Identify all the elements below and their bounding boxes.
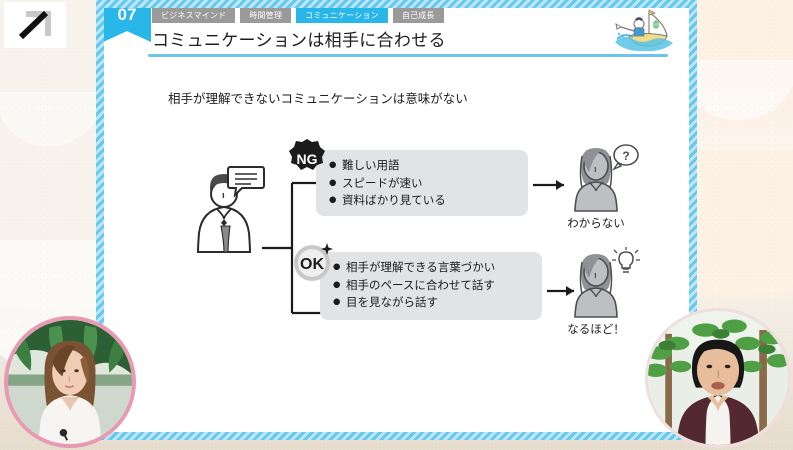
reaction-confused-caption: わからない	[548, 215, 644, 231]
lightbulb-icon	[612, 246, 640, 272]
ok-points-list: 相手が理解できる言葉づかい 相手のペースに合わせて話す 目を見ながら話す	[346, 259, 530, 312]
participant-left-frame	[4, 316, 136, 448]
diagonal-arrow-logo-icon	[15, 8, 55, 42]
title-underline	[148, 54, 668, 57]
slide-subtitle: 相手が理解できないコミュニケーションは意味がない	[168, 88, 468, 107]
svg-text:OK: OK	[300, 256, 324, 273]
ng-stamp-icon: NG	[286, 138, 328, 180]
presentation-slide: 07 ビジネスマインド 時間管理 コミュニケーション 自己成長 コミュニケーショ…	[96, 0, 697, 440]
tab-communication[interactable]: コミュニケーション	[296, 8, 388, 23]
participant-left-video[interactable]	[4, 316, 136, 448]
reaction-understood-caption: なるほど！	[548, 321, 644, 337]
woman-understanding-icon	[548, 246, 644, 318]
chapter-tabstrip[interactable]: ビジネスマインド 時間管理 コミュニケーション 自己成長	[152, 8, 444, 23]
svg-text:NG: NG	[297, 151, 318, 167]
reaction-understood: なるほど！	[548, 246, 644, 337]
woman-video-feed	[8, 320, 132, 444]
channel-logo	[4, 2, 66, 48]
ng-point-3: 資料ばかり見ている	[342, 192, 516, 210]
ok-point-2: 相手のペースに合わせて話す	[346, 277, 530, 295]
ng-points-box: 難しい用語 スピードが速い 資料ばかり見ている	[316, 150, 528, 216]
participant-right-video[interactable]	[645, 308, 791, 448]
ng-point-1: 難しい用語	[342, 157, 516, 175]
ok-point-1: 相手が理解できる言葉づかい	[346, 259, 530, 277]
svg-text:?: ?	[622, 149, 629, 163]
question-bubble-icon: ?	[614, 145, 638, 169]
slide-title: コミュニケーションは相手に合わせる	[152, 26, 446, 51]
slide-border-top	[96, 0, 697, 8]
tab-business-mind[interactable]: ビジネスマインド	[152, 8, 235, 23]
ok-points-box: 相手が理解できる言葉づかい 相手のペースに合わせて話す 目を見ながら話す	[320, 252, 542, 320]
slide-number-label: 07	[118, 5, 137, 25]
speech-bubble-lines-icon	[226, 164, 266, 198]
participant-right-frame	[645, 308, 791, 448]
slide-border-bottom	[96, 432, 697, 440]
tab-self-growth[interactable]: 自己成長	[393, 8, 444, 23]
ng-points-list: 難しい用語 スピードが速い 資料ばかり見ている	[342, 157, 516, 210]
ng-point-2: スピードが速い	[342, 175, 516, 193]
ok-stamp-icon: OK	[290, 238, 336, 284]
woman-confused-icon: ?	[548, 140, 644, 212]
reaction-confused: ? わからない	[548, 140, 644, 231]
sailboat-icon	[609, 6, 681, 54]
ok-point-3: 目を見ながら話す	[346, 294, 530, 312]
tab-time-management[interactable]: 時間管理	[240, 8, 291, 23]
man-video-feed	[648, 311, 788, 445]
